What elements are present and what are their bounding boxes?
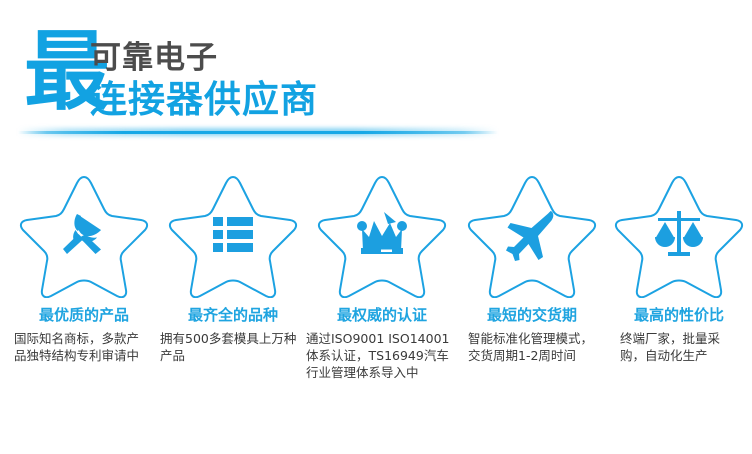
feature-item: 最高的性价比 终端厂家，批量采购，自动化生产: [606, 172, 752, 364]
feature-description: 国际知名商标，多款产品独特结构专利审请中: [14, 330, 150, 364]
headline-line-1: 可靠电子: [90, 42, 218, 75]
feature-title: 最优质的产品: [8, 306, 160, 324]
feature-description: 通过ISO9001 ISO14001体系认证，TS16949汽车行业管理体系导入…: [306, 330, 456, 381]
star-badge: [606, 172, 752, 298]
feature-title: 最短的交货期: [458, 306, 606, 324]
headline-line-2: 连接器供应商: [90, 80, 318, 119]
headline-banner: 最 可靠电子 连接器供应商: [0, 0, 752, 150]
feature-item: 最优质的产品 国际知名商标，多款产品独特结构专利审请中: [0, 172, 160, 364]
feature-description: 拥有500多套模具上万种产品: [160, 330, 300, 364]
balance-scale-icon: [653, 209, 705, 261]
headline-divider: [18, 126, 498, 138]
award-ribbon-icon: [57, 208, 111, 262]
feature-item: 最权威的认证 通过ISO9001 ISO14001体系认证，TS16949汽车行…: [306, 172, 458, 381]
star-badge: [8, 172, 160, 298]
feature-item: 最齐全的品种 拥有500多套模具上万种产品: [160, 172, 306, 364]
star-badge: [306, 172, 458, 298]
star-badge: [458, 172, 606, 298]
feature-description: 终端厂家，批量采购，自动化生产: [620, 330, 740, 364]
feature-description: 智能标准化管理模式，交货周期1-2周时间: [468, 330, 604, 364]
crown-icon: [356, 210, 408, 260]
star-badge: [160, 172, 306, 298]
feature-item: 最短的交货期 智能标准化管理模式，交货周期1-2周时间: [458, 172, 606, 364]
feature-title: 最齐全的品种: [160, 306, 306, 324]
airplane-icon: [505, 209, 559, 261]
divider-core-line: [18, 131, 498, 134]
feature-list: 最优质的产品 国际知名商标，多款产品独特结构专利审请中 最齐全的品种 拥有500…: [0, 172, 752, 381]
feature-title: 最权威的认证: [306, 306, 458, 324]
feature-title: 最高的性价比: [606, 306, 752, 324]
list-grid-icon: [210, 214, 256, 256]
